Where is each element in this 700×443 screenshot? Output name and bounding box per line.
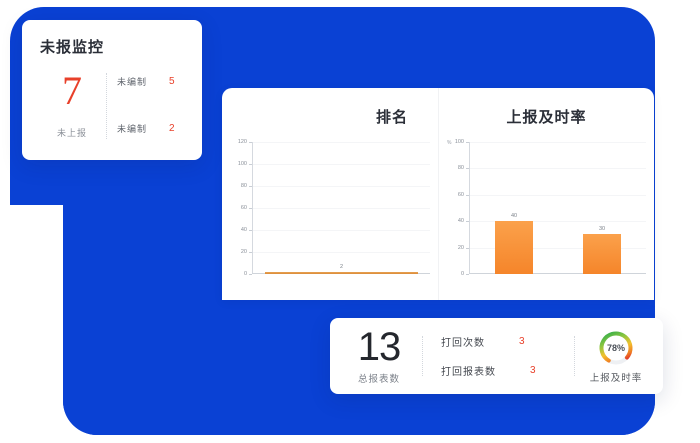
bar-slot[interactable]: 2 [253, 142, 430, 274]
dashboard-illustration: 排名 120 100 80 60 40 20 0 [0, 0, 700, 443]
y-tick: 60 [241, 205, 247, 211]
timeliness-gauge: 78% 上报及时率 [575, 329, 657, 384]
kpi-value: 5 [169, 76, 175, 87]
total-reports-caption: 总报表数 [358, 371, 400, 385]
y-tick: 100 [455, 139, 464, 145]
metric-value: 3 [530, 365, 536, 376]
y-tick: 80 [241, 183, 247, 189]
list-item[interactable]: 打回次数 3 [441, 334, 564, 349]
dashboard-panel: 排名 120 100 80 60 40 20 0 [222, 88, 654, 300]
y-tick: 20 [458, 245, 464, 251]
chart-title-timeliness: 上报及时率 [439, 106, 654, 127]
y-axis-ticks-timeliness: 100 80 60 40 20 0 [439, 142, 469, 274]
card-title: 未报监控 [40, 36, 188, 57]
gauge-ring: 78% [597, 329, 635, 367]
kpi-value: 2 [169, 123, 175, 134]
list-item[interactable]: 未编制 5 [117, 75, 188, 88]
total-reports-value: 13 [358, 327, 401, 367]
bar-slot[interactable]: 30 [558, 142, 646, 274]
chart-title-ranking: 排名 [222, 106, 438, 127]
chart-card-ranking: 排名 120 100 80 60 40 20 0 [222, 88, 438, 300]
bar-value-label: 30 [599, 226, 605, 232]
y-tick: 40 [458, 218, 464, 224]
summary-metric-list: 打回次数 3 打回报表数 3 [423, 334, 574, 378]
metric-label: 打回次数 [441, 334, 485, 349]
bar[interactable] [495, 221, 533, 274]
unreported-monitor-card: 未报监控 7 未上报 未编制 5 未编制 2 [22, 20, 202, 160]
primary-kpi-value: 7 [62, 71, 82, 111]
bar-series-timeliness: 40 30 [470, 142, 646, 274]
y-tick: 20 [241, 249, 247, 255]
kpi-breakdown-list: 未编制 5 未编制 2 [117, 71, 188, 141]
metric-label: 打回报表数 [441, 363, 496, 378]
total-reports-kpi: 13 总报表数 [336, 327, 422, 385]
kpi-row: 7 未上报 未编制 5 未编制 2 [40, 71, 188, 141]
gauge-value-label: 78% [597, 329, 635, 367]
bar-series-ranking: 2 [253, 142, 430, 274]
y-axis-ticks-ranking: 120 100 80 60 40 20 0 [222, 142, 252, 274]
metric-value: 3 [519, 336, 525, 347]
y-tick: 60 [458, 192, 464, 198]
bar-value-label: 2 [340, 264, 343, 270]
kpi-label: 未编制 [117, 75, 147, 88]
report-summary-card: 13 总报表数 打回次数 3 打回报表数 3 [330, 318, 663, 394]
primary-kpi: 7 未上报 [40, 71, 104, 141]
kpi-label: 未编制 [117, 122, 147, 135]
plot-area-ranking: 120 100 80 60 40 20 0 2 [222, 136, 438, 290]
y-tick: 120 [238, 139, 247, 145]
y-tick: 100 [238, 161, 247, 167]
vertical-divider [106, 73, 107, 139]
y-tick: 80 [458, 165, 464, 171]
bar-slot[interactable]: 40 [470, 142, 558, 274]
y-tick: 0 [244, 271, 247, 277]
plot-area-timeliness: % 100 80 60 40 20 0 [439, 136, 654, 290]
bar[interactable] [265, 272, 417, 274]
gauge-caption: 上报及时率 [590, 370, 643, 384]
bar-value-label: 40 [511, 213, 517, 219]
primary-kpi-caption: 未上报 [57, 126, 87, 139]
y-tick: 40 [241, 227, 247, 233]
y-tick: 0 [461, 271, 464, 277]
list-item[interactable]: 未编制 2 [117, 122, 188, 135]
list-item[interactable]: 打回报表数 3 [441, 363, 564, 378]
chart-card-timeliness: 上报及时率 % 100 80 60 40 20 0 [438, 88, 654, 300]
bar[interactable] [583, 234, 621, 274]
